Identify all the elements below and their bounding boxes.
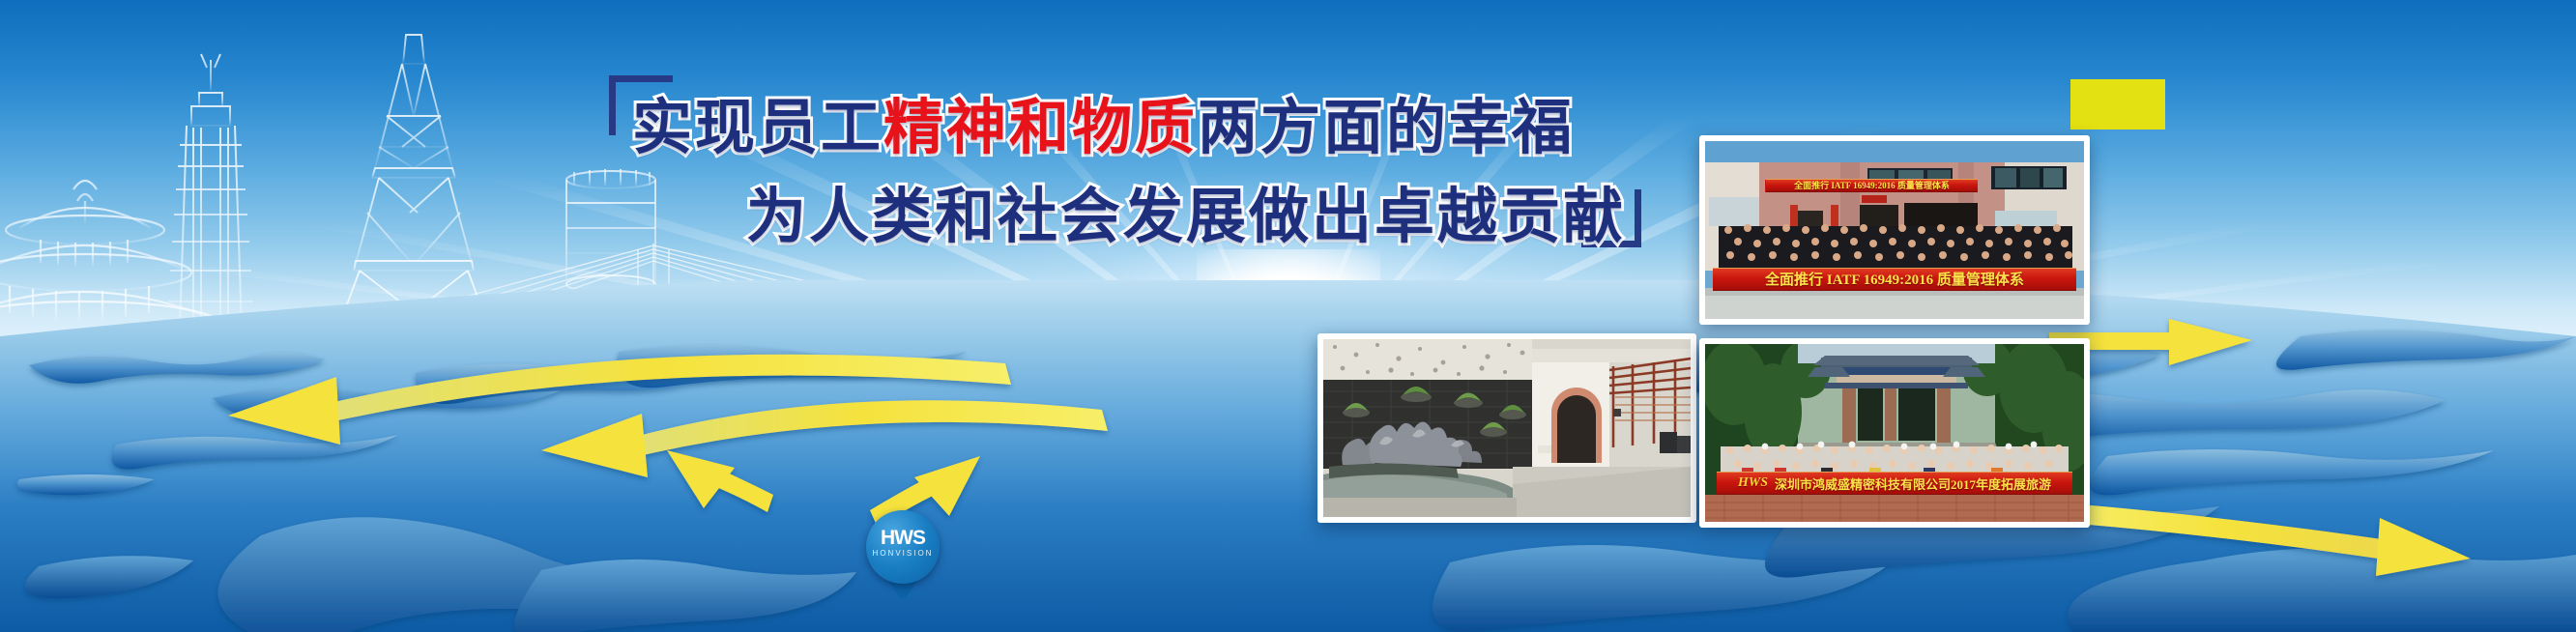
- photo-outing-group: HWS 深圳市鸿威盛精密科技有限公司2017年度拓展旅游: [1699, 338, 2090, 528]
- headline-line-2: 为人类和社会发展做出卓越贡献: [746, 187, 1626, 247]
- pin-logo-wordmark: HONVISION: [866, 550, 940, 558]
- yellow-accent-block: [2070, 79, 2165, 129]
- headline-block: 实现员工精神和物质两方面的幸福 为人类和社会发展做出卓越贡献: [609, 75, 1624, 269]
- photo-factory-group: 全面推行 IATF 16949:2016 质量管理体系 全面推行 IATF 16…: [1699, 135, 2090, 325]
- outing-banner-text: 深圳市鸿威盛精密科技有限公司2017年度拓展旅游: [1775, 474, 2051, 493]
- company-culture-banner: 实现员工精神和物质两方面的幸福 为人类和社会发展做出卓越贡献: [0, 0, 2576, 632]
- pin-logo-mark: HWS: [866, 528, 940, 548]
- photo-courtyard-garden: [1317, 333, 1696, 523]
- honvision-map-pin: HWS HONVISION: [866, 510, 940, 599]
- arrow-left-inner: [541, 400, 1108, 477]
- factory-bottom-banner: 全面推行 IATF 16949:2016 质量管理体系: [1713, 268, 2076, 291]
- outing-banner: HWS 深圳市鸿威盛精密科技有限公司2017年度拓展旅游: [1717, 472, 2072, 495]
- outing-banner-logo: HWS: [1738, 475, 1768, 491]
- headline-line2-seg-1: 为人类和社会发展做出卓越贡献: [746, 184, 1626, 250]
- arrow-center-left: [667, 450, 773, 512]
- arrow-right-lower: [2055, 503, 2471, 576]
- headline-line-1: 实现员工精神和物质两方面的幸福: [632, 99, 1575, 158]
- headline-line1-seg-3: 两方面的幸福: [1198, 95, 1575, 161]
- headline-line1-seg-2: 精神和物质: [883, 95, 1198, 161]
- arrow-left-outer: [228, 355, 1011, 445]
- factory-bottom-banner-text: 全面推行 IATF 16949:2016 质量管理体系: [1765, 269, 2024, 289]
- factory-top-banner: 全面推行 IATF 16949:2016 质量管理体系: [1766, 179, 1979, 193]
- pin-logo-text: HWS HONVISION: [866, 528, 940, 558]
- factory-top-banner-text: 全面推行 IATF 16949:2016 质量管理体系: [1794, 179, 1950, 191]
- headline-line1-seg-1: 实现员工: [632, 95, 883, 161]
